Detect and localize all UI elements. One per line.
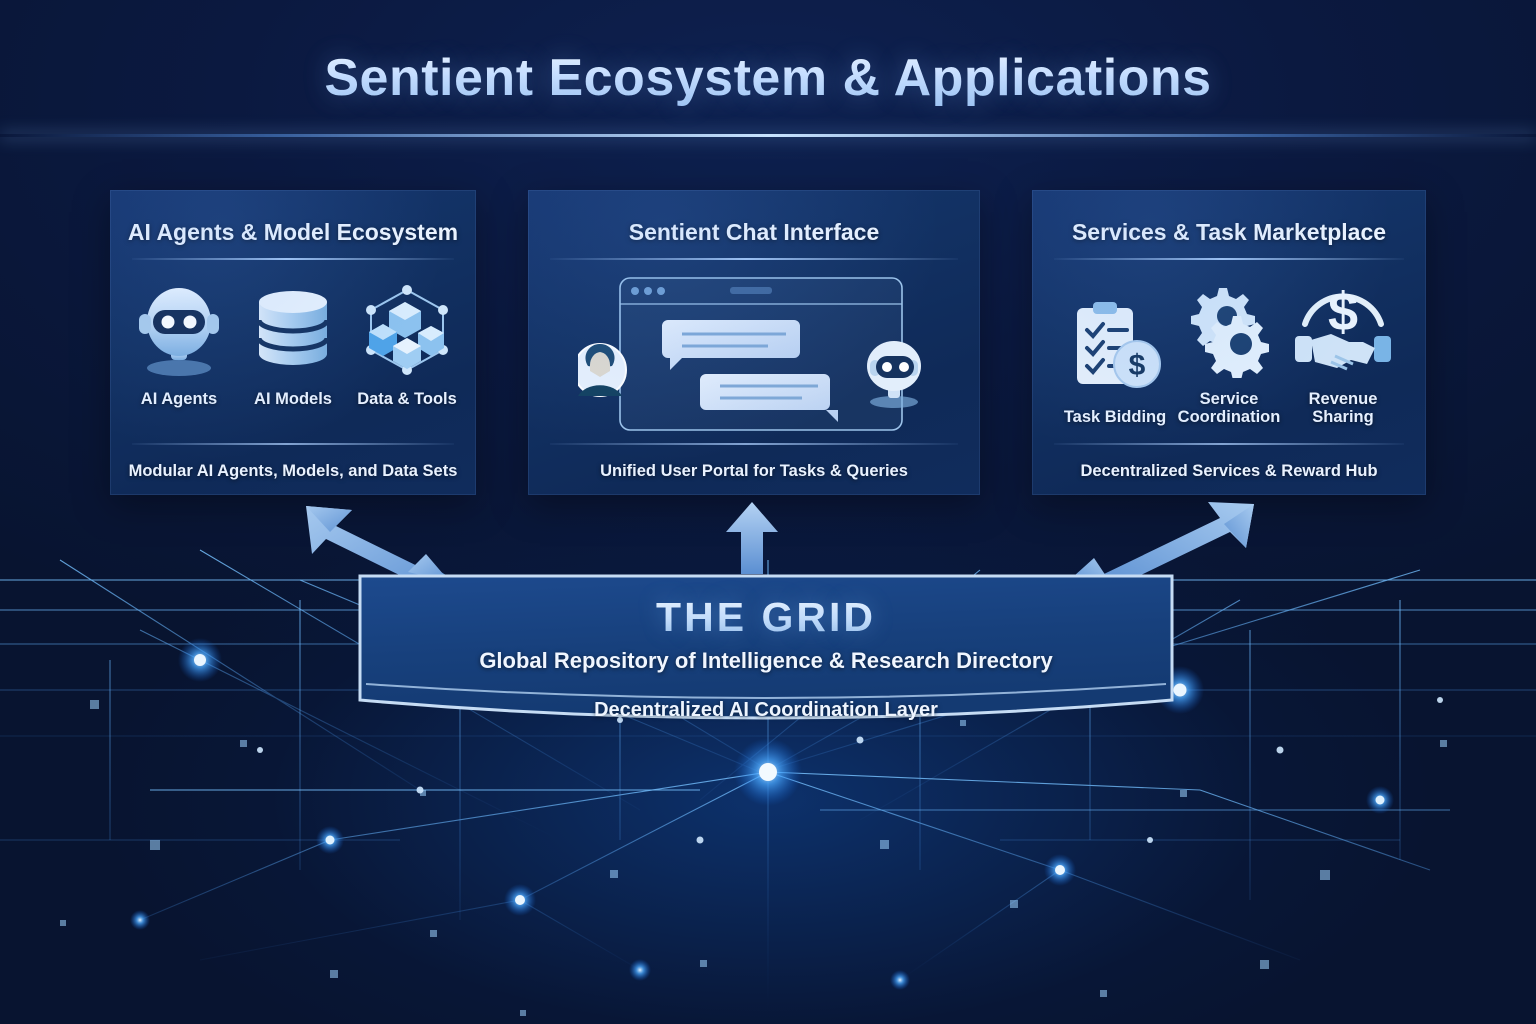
card-title: Sentient Chat Interface [528, 190, 980, 246]
gears-icon [1175, 276, 1283, 384]
icon-cell-service-coordination[interactable]: Service Coordination [1175, 276, 1283, 427]
icon-label: Task Bidding [1061, 408, 1169, 426]
icon-label: AI Agents [125, 390, 233, 408]
page-title: Sentient Ecosystem & Applications [0, 48, 1536, 108]
card-footer-divider [550, 443, 958, 445]
page-header: Sentient Ecosystem & Applications [0, 48, 1536, 108]
title-divider [0, 134, 1536, 137]
card-title-divider [1054, 258, 1404, 260]
card-footer: Unified User Portal for Tasks & Queries [528, 462, 980, 481]
handshake-dollar-icon: $ [1289, 276, 1397, 384]
icon-cell-revenue-sharing[interactable]: $ Revenue Sharing [1289, 276, 1397, 427]
card-footer: Modular AI Agents, Models, and Data Sets [110, 462, 476, 481]
icon-cell-ai-agents[interactable]: AI Agents [125, 276, 233, 408]
arrow-center-icon [720, 500, 784, 576]
card-title-divider [132, 258, 454, 260]
icon-cell-ai-models[interactable]: AI Models [239, 276, 347, 408]
card-title-divider [550, 258, 958, 260]
chat-mock[interactable] [578, 274, 930, 434]
card-icon-row: AI Agents AI Models [110, 276, 476, 408]
icon-cell-data-tools[interactable]: Data & Tools [353, 276, 461, 408]
card-footer-divider [1054, 443, 1404, 445]
robot-icon [125, 276, 233, 384]
card-footer: Decentralized Services & Reward Hub [1032, 462, 1426, 481]
card-title: AI Agents & Model Ecosystem [110, 190, 476, 246]
icon-cell-task-bidding[interactable]: $ Task Bidding [1061, 294, 1169, 426]
database-icon [239, 276, 347, 384]
icon-label: Service Coordination [1175, 390, 1283, 427]
card-ai-agents-model-ecosystem[interactable]: AI Agents & Model Ecosystem [110, 190, 476, 495]
node-cubes-icon [353, 276, 461, 384]
card-footer-divider [132, 443, 454, 445]
icon-label: Data & Tools [353, 390, 461, 408]
icon-label: Revenue Sharing [1289, 390, 1397, 427]
icon-label: AI Models [239, 390, 347, 408]
grid-subtitle: Global Repository of Intelligence & Rese… [352, 648, 1180, 674]
grid-title: THE GRID [352, 594, 1180, 641]
svg-text:$: $ [1129, 349, 1146, 382]
card-sentient-chat-interface[interactable]: Sentient Chat Interface [528, 190, 980, 495]
user-avatar-icon [578, 344, 626, 396]
grid-tagline: Decentralized AI Coordination Layer [352, 699, 1180, 722]
svg-text:$: $ [1328, 282, 1358, 342]
card-icon-row: $ Task Bidding Service Coordinati [1032, 276, 1426, 427]
clipboard-coin-icon: $ [1061, 294, 1169, 402]
card-services-task-marketplace[interactable]: Services & Task Marketplace $ Task Bi [1032, 190, 1426, 495]
card-title: Services & Task Marketplace [1032, 190, 1426, 246]
grid-panel[interactable]: THE GRID Global Repository of Intelligen… [352, 572, 1180, 732]
